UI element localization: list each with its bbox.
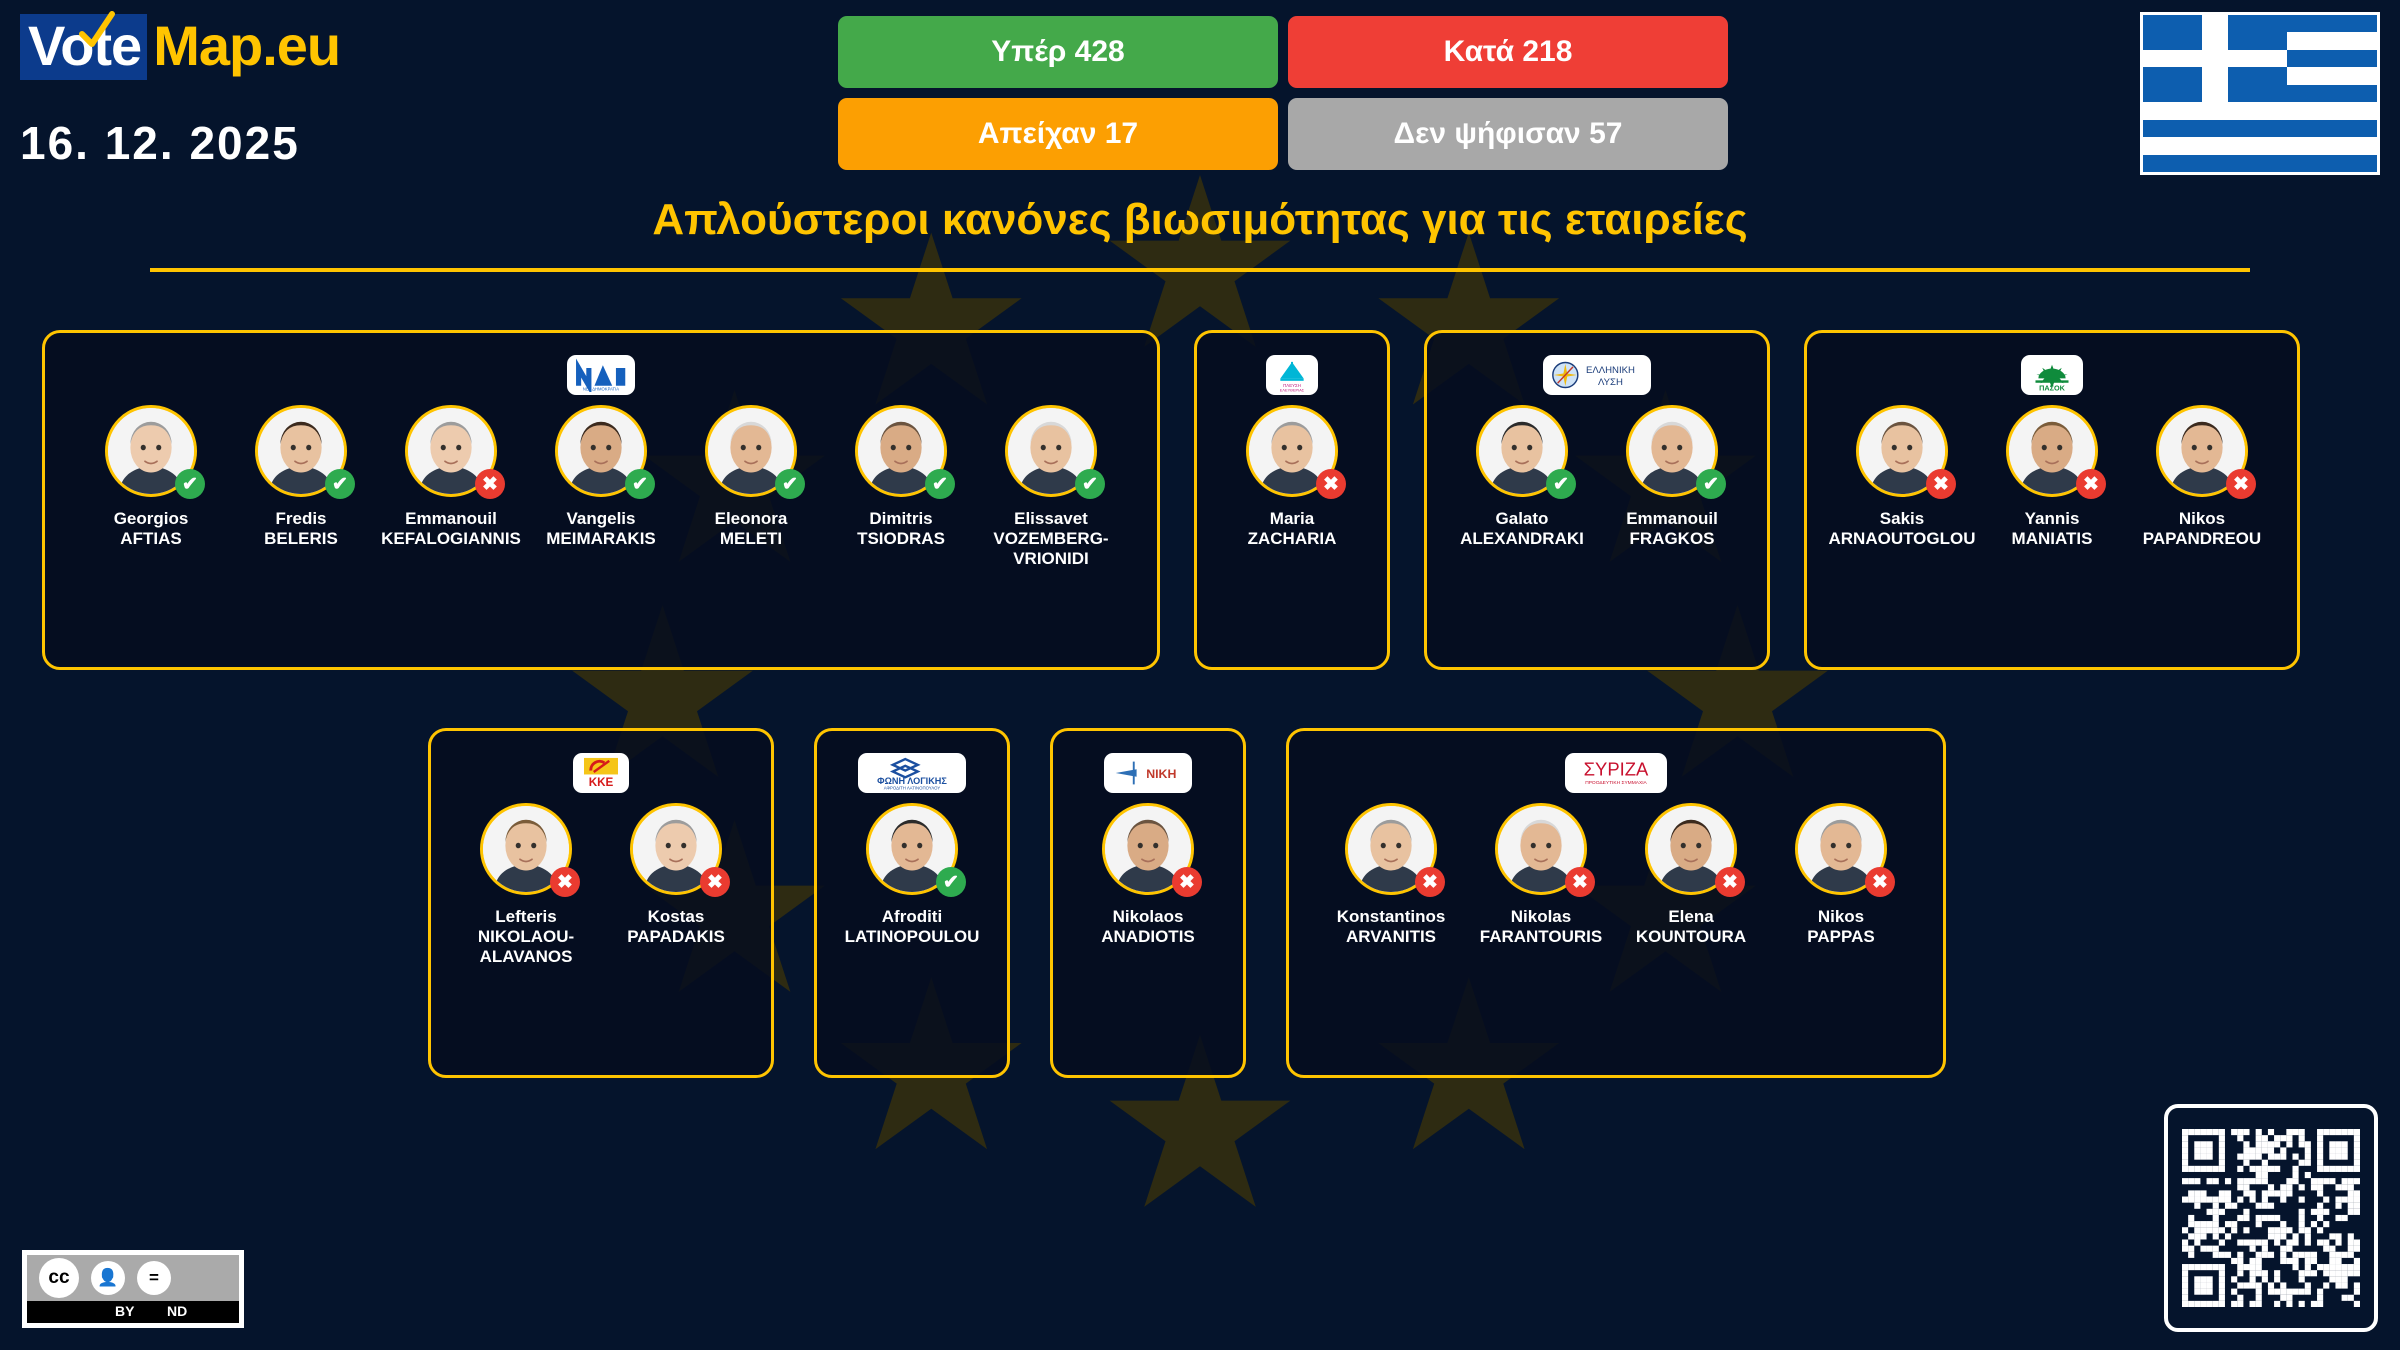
mep-card[interactable]: ✔GalatoALEXANDRAKI	[1451, 405, 1593, 549]
mep-last-name: MEIMARAKIS	[546, 529, 656, 549]
mep-last-name: KEFALOGIANNIS	[381, 529, 521, 549]
mep-photo-wrap: ✖	[1795, 803, 1887, 895]
vote-yes-icon: ✔	[936, 867, 966, 897]
mep-last-name: MANIATIS	[2012, 529, 2093, 549]
vote-no-icon: ✖	[1316, 469, 1346, 499]
svg-text:ΚΚΕ: ΚΚΕ	[589, 776, 614, 789]
mep-last-name: LATINOPOULOU	[845, 927, 980, 947]
mep-name: KostasPAPADAKIS	[627, 907, 725, 947]
mep-first-name: Kostas	[627, 907, 725, 927]
plefsi-logo: ΠΛΕΥΣΗ ΕΛΕΥΘΕΡΙΑΣ	[1266, 355, 1318, 395]
greece-flag	[2140, 12, 2380, 175]
nd-logo: ΝΕΑ ΔΗΜΟΚΡΑΤΙΑ	[567, 355, 635, 395]
cc-by-label: BY	[115, 1303, 134, 1319]
vote-no-icon: ✖	[1415, 867, 1445, 897]
mep-photo-wrap: ✔	[255, 405, 347, 497]
svg-text:ΛΥΣΗ: ΛΥΣΗ	[1598, 377, 1623, 388]
mep-name: ElissavetVOZEMBERG-VRIONIDI	[980, 509, 1122, 569]
mep-first-name: Nikos	[2143, 509, 2261, 529]
party-card-κκε[interactable]: ΚΚΕ ✖LefterisNIKOLAOU-ALAVANOS ✖KostasPA…	[428, 728, 774, 1078]
vote-yes-icon: ✔	[625, 469, 655, 499]
party-row-1: ΝΕΑ ΔΗΜΟΚΡΑΤΙΑ ✔GeorgiosAFTIAS ✔FredisBE…	[0, 330, 2400, 670]
mep-first-name: Sakis	[1829, 509, 1976, 529]
mep-first-name: Fredis	[264, 509, 338, 529]
qr-code[interactable]	[2164, 1104, 2378, 1332]
vote-no-icon: ✖	[550, 867, 580, 897]
mep-last-name: TSIODRAS	[857, 529, 945, 549]
mep-photo-wrap: ✔	[105, 405, 197, 497]
vote-date: 16. 12. 2025	[20, 116, 300, 170]
mep-photo-wrap: ✖	[2006, 405, 2098, 497]
mep-first-name: Nikolaos	[1101, 907, 1195, 927]
mep-card[interactable]: ✖SakisARNAOUTOGLOU	[1831, 405, 1973, 549]
vote-yes-icon: ✔	[775, 469, 805, 499]
mep-first-name: Galato	[1460, 509, 1584, 529]
mep-photo-wrap: ✖	[1645, 803, 1737, 895]
mep-list: ✖KonstantinosARVANITIS ✖NikolasFARANTOUR…	[1320, 803, 1912, 947]
mep-list: ✔GalatoALEXANDRAKI ✔EmmanouilFRAGKOS	[1451, 405, 1743, 549]
mep-card[interactable]: ✖NikosPAPANDREOU	[2131, 405, 2273, 549]
mep-card[interactable]: ✔GeorgiosAFTIAS	[80, 405, 222, 549]
mep-list: ✖SakisARNAOUTOGLOU ✖YannisMANIATIS ✖Niko…	[1831, 405, 2273, 549]
mep-last-name: FARANTOURIS	[1480, 927, 1602, 947]
mep-last-name: VOZEMBERG-VRIONIDI	[980, 529, 1122, 569]
vote-no-icon: ✖	[2226, 469, 2256, 499]
mep-photo-wrap: ✔	[705, 405, 797, 497]
check-icon	[76, 10, 116, 50]
mep-photo-wrap: ✔	[866, 803, 958, 895]
mep-first-name: Konstantinos	[1337, 907, 1446, 927]
mep-card[interactable]: ✖YannisMANIATIS	[1981, 405, 2123, 549]
mep-name: DimitrisTSIODRAS	[857, 509, 945, 549]
mep-name: ElenaKOUNTOURA	[1636, 907, 1746, 947]
mep-first-name: Maria	[1248, 509, 1337, 529]
mep-name: YannisMANIATIS	[2012, 509, 2093, 549]
vote-no-icon: ✖	[1865, 867, 1895, 897]
mep-photo-wrap: ✔	[1476, 405, 1568, 497]
mep-list: ✖LefterisNIKOLAOU-ALAVANOS ✖KostasPAPADA…	[455, 803, 747, 967]
mep-first-name: Eleonora	[715, 509, 788, 529]
mep-card[interactable]: ✔AfroditiLATINOPOULOU	[841, 803, 983, 947]
logo-mapeu-text: Map.eu	[147, 14, 340, 77]
mep-photo-wrap: ✔	[1626, 405, 1718, 497]
mep-card[interactable]: ✖NikolaosANADIOTIS	[1077, 803, 1219, 947]
vote-no-icon: ✖	[1926, 469, 1956, 499]
party-card-νικη[interactable]: ΝΙΚΗ ✖NikolaosANADIOTIS	[1050, 728, 1246, 1078]
mep-photo-wrap: ✖	[405, 405, 497, 497]
elliniki-lysi-logo: ΕΛΛΗΝΙΚΗ ΛΥΣΗ	[1543, 355, 1651, 395]
vote-yes-icon: ✔	[1696, 469, 1726, 499]
mep-name: GalatoALEXANDRAKI	[1460, 509, 1584, 549]
vote-yes-icon: ✔	[1075, 469, 1105, 499]
mep-name: KonstantinosARVANITIS	[1337, 907, 1446, 947]
mep-list: ✖MariaZACHARIA	[1221, 405, 1363, 549]
mep-card[interactable]: ✔DimitrisTSIODRAS	[830, 405, 972, 549]
mep-last-name: BELERIS	[264, 529, 338, 549]
vote-yes-icon: ✔	[175, 469, 205, 499]
nd-equals-icon: =	[137, 1261, 171, 1295]
mep-name: NikolaosANADIOTIS	[1101, 907, 1195, 947]
mep-name: LefterisNIKOLAOU-ALAVANOS	[455, 907, 597, 967]
logo-vote-text: Vote	[20, 14, 147, 80]
mep-card[interactable]: ✖NikosPAPPAS	[1770, 803, 1912, 947]
mep-list: ✖NikolaosANADIOTIS	[1077, 803, 1219, 947]
mep-photo-wrap: ✔	[855, 405, 947, 497]
qr-code-image	[2182, 1122, 2360, 1314]
site-logo[interactable]: Vote Map.eu	[20, 14, 340, 80]
mep-name: NikosPAPPAS	[1807, 907, 1874, 947]
mep-first-name: Afroditi	[845, 907, 980, 927]
mep-photo-wrap: ✖	[630, 803, 722, 895]
mep-card[interactable]: ✔VangelisMEIMARAKIS	[530, 405, 672, 549]
niki-logo: ΝΙΚΗ	[1104, 753, 1192, 793]
mep-name: EleonoraMELETI	[715, 509, 788, 549]
mep-card[interactable]: ✖LefterisNIKOLAOU-ALAVANOS	[455, 803, 597, 967]
mep-list: ✔GeorgiosAFTIAS ✔FredisBELERIS ✖Emmanoui…	[80, 405, 1122, 569]
party-card-πασοκ[interactable]: ΠΑΣΟΚ ✖SakisARNAOUTOGLOU ✖YannisMANIATIS…	[1804, 330, 2300, 670]
mep-first-name: Dimitris	[857, 509, 945, 529]
mep-last-name: ARNAOUTOGLOU	[1829, 529, 1976, 549]
tally-against[interactable]: Κατά 218	[1288, 16, 1728, 88]
tally-for[interactable]: Υπέρ 428	[838, 16, 1278, 88]
party-board: ΝΕΑ ΔΗΜΟΚΡΑΤΙΑ ✔GeorgiosAFTIAS ✔FredisBE…	[0, 330, 2400, 1078]
mep-name: NikosPAPANDREOU	[2143, 509, 2261, 549]
mep-photo-wrap: ✖	[480, 803, 572, 895]
page-title: Απλούστεροι κανόνες βιωσιμότητας για τις…	[0, 195, 2400, 245]
mep-photo-wrap: ✖	[1246, 405, 1338, 497]
foni-logikis-logo: ΦΩΝΗ ΛΟΓΙΚΗΣ ΑΦΡΟΔΙΤΗ ΛΑΤΙΝΟΠΟΥΛΟΥ	[858, 753, 966, 793]
party-card-νδ[interactable]: ΝΕΑ ΔΗΜΟΚΡΑΤΙΑ ✔GeorgiosAFTIAS ✔FredisBE…	[42, 330, 1160, 670]
svg-text:ΑΦΡΟΔΙΤΗ ΛΑΤΙΝΟΠΟΥΛΟΥ: ΑΦΡΟΔΙΤΗ ΛΑΤΙΝΟΠΟΥΛΟΥ	[884, 785, 941, 790]
vote-no-icon: ✖	[2076, 469, 2106, 499]
mep-card[interactable]: ✖MariaZACHARIA	[1221, 405, 1363, 549]
vote-yes-icon: ✔	[325, 469, 355, 499]
mep-first-name: Lefteris	[455, 907, 597, 927]
vote-no-icon: ✖	[1715, 867, 1745, 897]
svg-text:ΦΩΝΗ ΛΟΓΙΚΗΣ: ΦΩΝΗ ΛΟΓΙΚΗΣ	[877, 776, 947, 786]
party-card-ελ.-λυση[interactable]: ΕΛΛΗΝΙΚΗ ΛΥΣΗ ✔GalatoALEXANDRAKI ✔Emmano…	[1424, 330, 1770, 670]
mep-photo-wrap: ✖	[2156, 405, 2248, 497]
tally-abstain[interactable]: Απείχαν 17	[838, 98, 1278, 170]
mep-first-name: Emmanouil	[1626, 509, 1718, 529]
mep-photo-wrap: ✖	[1345, 803, 1437, 895]
mep-name: MariaZACHARIA	[1248, 509, 1337, 549]
svg-text:ΣΥΡΙΖΑ: ΣΥΡΙΖΑ	[1584, 758, 1649, 779]
cc-by-nd-badge[interactable]: cc 👤 = BY ND	[22, 1250, 244, 1328]
mep-last-name: ANADIOTIS	[1101, 927, 1195, 947]
pasok-logo: ΠΑΣΟΚ	[2021, 355, 2083, 395]
tally-did-not-vote[interactable]: Δεν ψήφισαν 57	[1288, 98, 1728, 170]
svg-text:ΝΕΑ ΔΗΜΟΚΡΑΤΙΑ: ΝΕΑ ΔΗΜΟΚΡΑΤΙΑ	[583, 386, 619, 391]
syriza-logo: ΣΥΡΙΖΑ ΠΡΟΟΔΕΥΤΙΚΗ ΣΥΜΜΑΧΙΑ	[1565, 753, 1667, 793]
cc-icon: cc	[39, 1258, 79, 1298]
mep-last-name: FRAGKOS	[1626, 529, 1718, 549]
mep-card[interactable]: ✖NikolasFARANTOURIS	[1470, 803, 1612, 947]
vote-no-icon: ✖	[700, 867, 730, 897]
mep-last-name: KOUNTOURA	[1636, 927, 1746, 947]
mep-last-name: PAPANDREOU	[2143, 529, 2261, 549]
mep-photo-wrap: ✖	[1856, 405, 1948, 497]
header: Vote Map.eu 16. 12. 2025 Υπέρ 428 Κατά 2…	[0, 0, 2400, 205]
mep-card[interactable]: ✔ElissavetVOZEMBERG-VRIONIDI	[980, 405, 1122, 569]
mep-photo-wrap: ✔	[1005, 405, 1097, 497]
mep-photo-wrap: ✖	[1102, 803, 1194, 895]
mep-last-name: ARVANITIS	[1337, 927, 1446, 947]
mep-first-name: Yannis	[2012, 509, 2093, 529]
mep-name: GeorgiosAFTIAS	[114, 509, 189, 549]
vote-no-icon: ✖	[1565, 867, 1595, 897]
mep-name: SakisARNAOUTOGLOU	[1829, 509, 1976, 549]
vote-yes-icon: ✔	[925, 469, 955, 499]
party-row-2: ΚΚΕ ✖LefterisNIKOLAOU-ALAVANOS ✖KostasPA…	[0, 728, 2400, 1078]
mep-first-name: Emmanouil	[381, 509, 521, 529]
svg-text:ΕΛΛΗΝΙΚΗ: ΕΛΛΗΝΙΚΗ	[1586, 365, 1635, 376]
mep-first-name: Nikos	[1807, 907, 1874, 927]
mep-last-name: PAPADAKIS	[627, 927, 725, 947]
mep-first-name: Georgios	[114, 509, 189, 529]
mep-name: AfroditiLATINOPOULOU	[845, 907, 980, 947]
mep-last-name: PAPPAS	[1807, 927, 1874, 947]
mep-list: ✔AfroditiLATINOPOULOU	[841, 803, 983, 947]
mep-first-name: Elena	[1636, 907, 1746, 927]
mep-name: VangelisMEIMARAKIS	[546, 509, 656, 549]
svg-text:ΕΛΕΥΘΕΡΙΑΣ: ΕΛΕΥΘΕΡΙΑΣ	[1280, 388, 1305, 392]
mep-card[interactable]: ✖KonstantinosARVANITIS	[1320, 803, 1462, 947]
mep-photo-wrap: ✖	[1495, 803, 1587, 895]
party-card-πλευση[interactable]: ΠΛΕΥΣΗ ΕΛΕΥΘΕΡΙΑΣ ✖MariaZACHARIA	[1194, 330, 1390, 670]
svg-text:ΠΡΟΟΔΕΥΤΙΚΗ ΣΥΜΜΑΧΙΑ: ΠΡΟΟΔΕΥΤΙΚΗ ΣΥΜΜΑΧΙΑ	[1585, 780, 1647, 786]
mep-name: FredisBELERIS	[264, 509, 338, 549]
vote-yes-icon: ✔	[1546, 469, 1576, 499]
title-divider	[150, 268, 2250, 272]
party-card-φωνη-λογικης[interactable]: ΦΩΝΗ ΛΟΓΙΚΗΣ ΑΦΡΟΔΙΤΗ ΛΑΤΙΝΟΠΟΥΛΟΥ ✔Afro…	[814, 728, 1010, 1078]
mep-first-name: Elissavet	[980, 509, 1122, 529]
vote-no-icon: ✖	[475, 469, 505, 499]
party-card-συριζα[interactable]: ΣΥΡΙΖΑ ΠΡΟΟΔΕΥΤΙΚΗ ΣΥΜΜΑΧΙΑ ✖Konstantino…	[1286, 728, 1946, 1078]
svg-text:ΝΙΚΗ: ΝΙΚΗ	[1146, 767, 1176, 781]
mep-last-name: ALEXANDRAKI	[1460, 529, 1584, 549]
mep-card[interactable]: ✔EmmanouilFRAGKOS	[1601, 405, 1743, 549]
mep-last-name: AFTIAS	[114, 529, 189, 549]
mep-card[interactable]: ✖KostasPAPADAKIS	[605, 803, 747, 947]
mep-card[interactable]: ✖ElenaKOUNTOURA	[1620, 803, 1762, 947]
mep-last-name: ZACHARIA	[1248, 529, 1337, 549]
mep-card[interactable]: ✔EleonoraMELETI	[680, 405, 822, 549]
vote-no-icon: ✖	[1172, 867, 1202, 897]
svg-text:ΠΑΣΟΚ: ΠΑΣΟΚ	[2039, 384, 2066, 392]
mep-name: EmmanouilKEFALOGIANNIS	[381, 509, 521, 549]
by-person-icon: 👤	[91, 1261, 125, 1295]
mep-first-name: Vangelis	[546, 509, 656, 529]
kke-logo: ΚΚΕ	[573, 753, 629, 793]
vote-tally-group: Υπέρ 428 Κατά 218 Απείχαν 17 Δεν ψήφισαν…	[838, 16, 1728, 170]
mep-first-name: Nikolas	[1480, 907, 1602, 927]
mep-photo-wrap: ✔	[555, 405, 647, 497]
mep-card[interactable]: ✔FredisBELERIS	[230, 405, 372, 549]
mep-last-name: MELETI	[715, 529, 788, 549]
mep-name: NikolasFARANTOURIS	[1480, 907, 1602, 947]
mep-name: EmmanouilFRAGKOS	[1626, 509, 1718, 549]
mep-card[interactable]: ✖EmmanouilKEFALOGIANNIS	[380, 405, 522, 549]
cc-nd-label: ND	[167, 1303, 187, 1319]
mep-last-name: NIKOLAOU-ALAVANOS	[455, 927, 597, 967]
